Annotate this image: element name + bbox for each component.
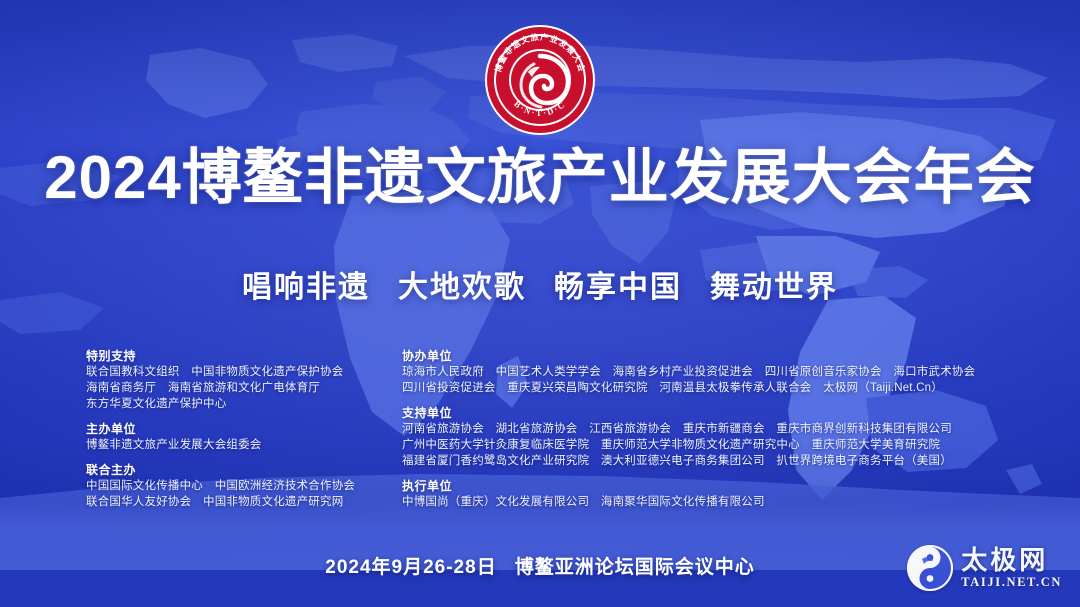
credit-heading: 特别支持	[86, 348, 386, 364]
taiji-watermark-cn: 太极网	[961, 547, 1062, 573]
conference-emblem-logo: 博鳌非遗文旅产业发展大会 B·N·T·D·C	[484, 24, 596, 136]
poster-title: 2024博鳌非遗文旅产业发展大会年会	[0, 146, 1080, 209]
credit-heading: 支持单位	[402, 405, 1020, 421]
taiji-watermark-en: TAIJI.NET.CN	[961, 576, 1062, 589]
credits-column-right: 协办单位 琼海市人民政府 中国艺术人类学学会 海南省乡村产业投资促进会 四川省原…	[386, 348, 1020, 510]
credit-line: 联合国教科文组织 中国非物质文化遗产保护协会	[86, 364, 386, 380]
credit-heading: 协办单位	[402, 348, 1020, 364]
credit-line: 博鳌非遗文旅产业发展大会组委会	[86, 437, 386, 453]
subtitle-segment-4: 舞动世界	[710, 271, 838, 304]
credit-block-executing-units: 执行单位 中博国尚（重庆）文化发展有限公司 海南聚华国际文化传播有限公司	[402, 478, 1020, 510]
taiji-watermark: 太极网 TAIJI.NET.CN	[907, 545, 1062, 591]
credit-line: 福建省厦门香约鹭岛文化产业研究院 澳大利亚德兴电子商务集团公司 扒世界跨境电子商…	[402, 453, 1020, 469]
credit-block-supporting-units: 支持单位 河南省旅游协会 湖北省旅游协会 江西省旅游协会 重庆市新疆商会 重庆市…	[402, 405, 1020, 469]
credit-line: 联合国华人友好协会 中国非物质文化遗产研究网	[86, 494, 386, 510]
credit-block-co-organizer: 联合主办 中国国际文化传播中心 中国欧洲经济技术合作协会 联合国华人友好协会 中…	[86, 462, 386, 510]
credit-line: 琼海市人民政府 中国艺术人类学学会 海南省乡村产业投资促进会 四川省原创音乐家协…	[402, 364, 1020, 380]
taiji-watermark-text: 太极网 TAIJI.NET.CN	[961, 547, 1062, 589]
footer-date: 2024年9月26-28日	[325, 557, 496, 578]
credits-column-left: 特别支持 联合国教科文组织 中国非物质文化遗产保护协会 海南省商务厅 海南省旅游…	[86, 348, 386, 510]
credits-section: 特别支持 联合国教科文组织 中国非物质文化遗产保护协会 海南省商务厅 海南省旅游…	[86, 348, 1020, 510]
credit-heading: 执行单位	[402, 478, 1020, 494]
credit-line: 广州中医药大学针灸康复临床医学院 重庆师范大学非物质文化遗产研究中心 重庆师范大…	[402, 437, 1020, 453]
credit-block-cooperating-units: 协办单位 琼海市人民政府 中国艺术人类学学会 海南省乡村产业投资促进会 四川省原…	[402, 348, 1020, 396]
subtitle-segment-1: 唱响非遗	[242, 271, 370, 304]
credit-heading: 联合主办	[86, 462, 386, 478]
subtitle-segment-3: 畅享中国	[554, 271, 682, 304]
credit-heading: 主办单位	[86, 421, 386, 437]
credit-block-special-support: 特别支持 联合国教科文组织 中国非物质文化遗产保护协会 海南省商务厅 海南省旅游…	[86, 348, 386, 412]
credit-line: 中博国尚（重庆）文化发展有限公司 海南聚华国际文化传播有限公司	[402, 494, 1020, 510]
conference-poster: 博鳌非遗文旅产业发展大会 B·N·T·D·C 2024博鳌非遗文旅产业发展大会年…	[0, 0, 1080, 607]
credit-line: 海南省商务厅 海南省旅游和文化广电体育厅	[86, 380, 386, 396]
credit-line: 东方华夏文化遗产保护中心	[86, 396, 386, 412]
poster-subtitle: 唱响非遗大地欢歌畅享中国舞动世界	[0, 262, 1080, 306]
taiji-logo-icon	[907, 545, 953, 591]
credit-line: 中国国际文化传播中心 中国欧洲经济技术合作协会	[86, 478, 386, 494]
credit-line: 河南省旅游协会 湖北省旅游协会 江西省旅游协会 重庆市新疆商会 重庆市商界创新科…	[402, 421, 1020, 437]
subtitle-segment-2: 大地欢歌	[398, 271, 526, 304]
credit-line: 四川省投资促进会 重庆夏兴荣昌陶文化研究院 河南温县太极拳传承人联合会 太极网（…	[402, 380, 1020, 396]
credit-block-organizer: 主办单位 博鳌非遗文旅产业发展大会组委会	[86, 421, 386, 453]
footer-venue: 博鳌亚洲论坛国际会议中心	[515, 557, 755, 578]
